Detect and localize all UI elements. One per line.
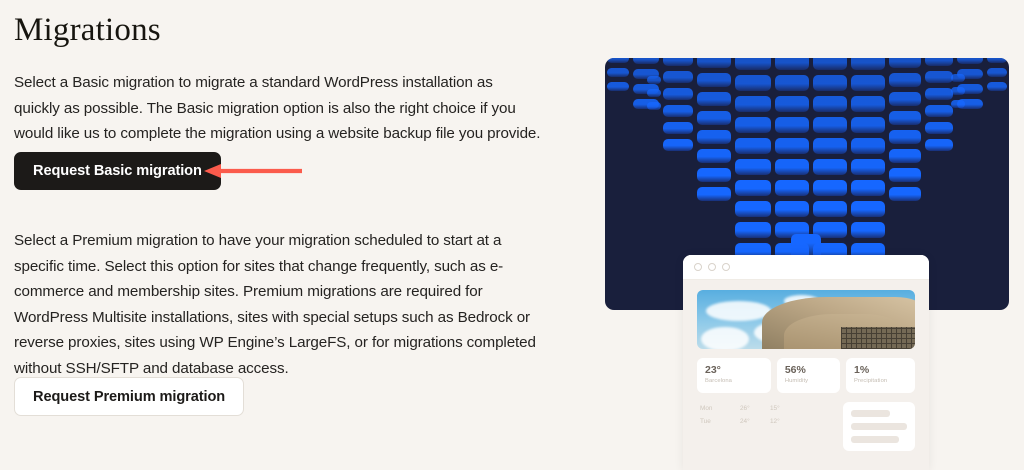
forecast-low: 12° — [770, 415, 796, 428]
stat-card-humidity: 56% Humidity — [777, 358, 840, 393]
basic-migration-description: Select a Basic migration to migrate a st… — [14, 70, 541, 147]
forecast-low: 15° — [770, 402, 796, 415]
content-column: Migrations Select a Basic migration to m… — [14, 0, 559, 470]
stat-card-temperature: 23° Barcelona — [697, 358, 771, 393]
browser-title-bar — [683, 255, 929, 280]
skeleton-bar — [851, 410, 890, 417]
skeleton-bar — [851, 423, 907, 430]
page-title: Migrations — [14, 0, 559, 50]
forecast-high: 24° — [740, 415, 770, 428]
forecast-high: 26° — [740, 402, 770, 415]
weather-stat-row: 23° Barcelona 56% Humidity 1% Precipitat… — [697, 358, 915, 393]
left-arrow-icon — [204, 163, 302, 179]
skeleton-bar — [851, 436, 899, 443]
forecast-list: Mon 26° 15° Tue 24° 12° — [697, 402, 833, 451]
stat-label: Barcelona — [705, 377, 763, 386]
list-item: Mon 26° 15° — [700, 402, 833, 415]
forecast-area: Mon 26° 15° Tue 24° 12° — [697, 402, 915, 451]
list-item: Tue 24° 12° — [700, 415, 833, 428]
browser-viewport: 23° Barcelona 56% Humidity 1% Precipitat… — [683, 280, 929, 470]
stat-value: 1% — [854, 364, 907, 376]
maximize-dot-icon — [722, 263, 730, 271]
request-basic-migration-button[interactable]: Request Basic migration — [14, 152, 221, 190]
forecast-day: Mon — [700, 402, 740, 415]
stat-label: Humidity — [785, 377, 832, 386]
stat-label: Precipitation — [854, 377, 907, 386]
request-premium-migration-button[interactable]: Request Premium migration — [14, 377, 244, 416]
close-dot-icon — [694, 263, 702, 271]
placeholder-card — [843, 402, 915, 451]
forecast-day: Tue — [700, 415, 740, 428]
website-preview-window: 23° Barcelona 56% Humidity 1% Precipitat… — [683, 255, 929, 470]
minimize-dot-icon — [708, 263, 716, 271]
hero-photo — [697, 290, 915, 349]
stat-card-precipitation: 1% Precipitation — [846, 358, 915, 393]
premium-migration-description: Select a Premium migration to have your … — [14, 228, 541, 381]
stat-value: 23° — [705, 364, 763, 376]
stat-value: 56% — [785, 364, 832, 376]
